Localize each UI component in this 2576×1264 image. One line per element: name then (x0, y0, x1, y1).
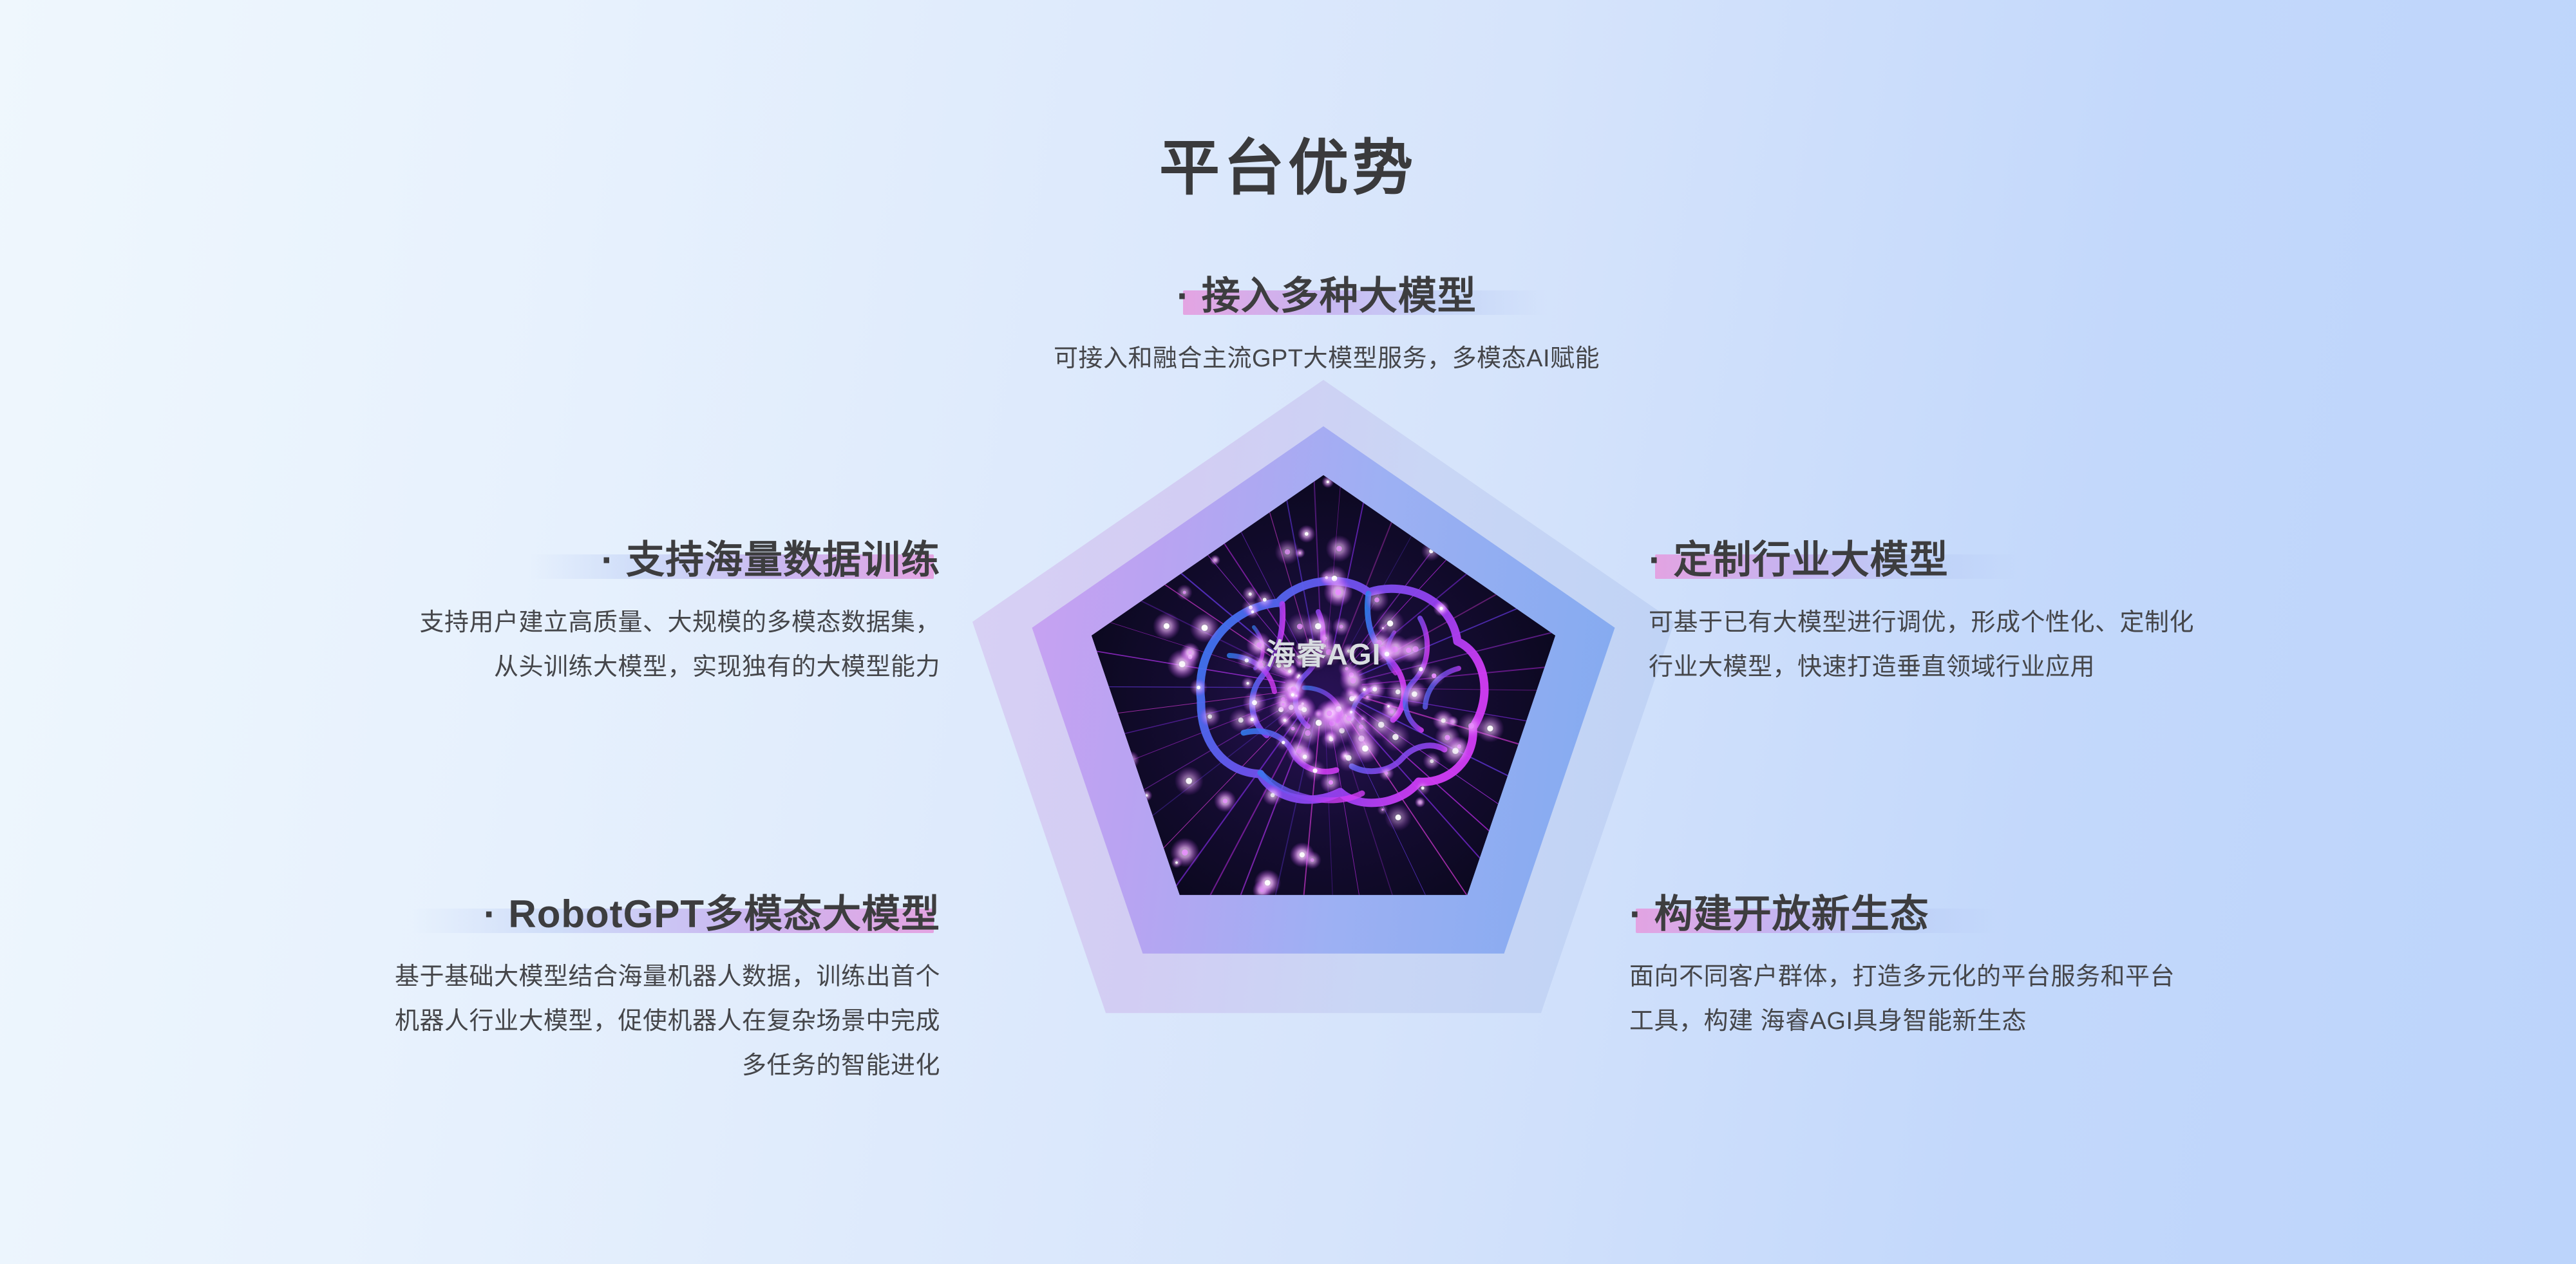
pentagon-graphic: 海睿AGI (972, 380, 1674, 1101)
feature-right-2: · 构建开放新生态 面向不同客户群体，打造多元化的平台服务和平台 工具，构建 海… (1629, 894, 2454, 1044)
feature-right-2-heading-text: · 构建开放新生态 (1629, 892, 1929, 936)
feature-left-2-heading: · RobotGPT多模态大模型 (484, 894, 940, 938)
feature-top-heading-text: · 接入多种大模型 (1177, 274, 1477, 317)
feature-top: · 接入多种大模型 可接入和融合主流GPT大模型服务，多模态AI赋能 (882, 276, 1771, 381)
feature-top-heading: · 接入多种大模型 (1177, 276, 1477, 320)
feature-left-2: · RobotGPT多模态大模型 基于基础大模型结合海量机器人数据，训练出首个 … (109, 894, 940, 1088)
feature-right-1-body: 可基于已有大模型进行调优，形成个性化、定制化 行业大模型，快速打造垂直领域行业应… (1649, 601, 2454, 690)
feature-left-1-heading-text: · 支持海量数据训练 (601, 538, 940, 581)
feature-left-1-body: 支持用户建立高质量、大规模的多模态数据集， 从头训练大模型，实现独有的大模型能力 (148, 601, 940, 690)
feature-right-2-body: 面向不同客户群体，打造多元化的平台服务和平台 工具，构建 海睿AGI具身智能新生… (1629, 955, 2454, 1044)
feature-right-1-heading: · 定制行业大模型 (1649, 540, 1949, 584)
feature-left-2-body: 基于基础大模型结合海量机器人数据，训练出首个 机器人行业大模型，促使机器人在复杂… (109, 955, 940, 1088)
feature-right-1: · 定制行业大模型 可基于已有大模型进行调优，形成个性化、定制化 行业大模型，快… (1649, 540, 2454, 690)
feature-left-1-heading: · 支持海量数据训练 (601, 540, 940, 584)
feature-right-2-heading: · 构建开放新生态 (1629, 894, 1929, 938)
feature-left-1: · 支持海量数据训练 支持用户建立高质量、大规模的多模态数据集， 从头训练大模型… (148, 540, 940, 690)
feature-right-1-heading-text: · 定制行业大模型 (1649, 538, 1949, 581)
page-title: 平台优势 (0, 119, 2576, 207)
feature-top-body: 可接入和融合主流GPT大模型服务，多模态AI赋能 (882, 337, 1771, 381)
feature-left-2-heading-text: · RobotGPT多模态大模型 (484, 892, 940, 936)
